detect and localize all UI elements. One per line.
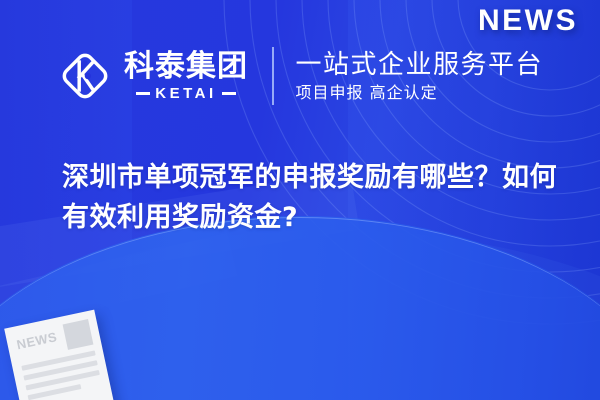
ketai-diamond-monogram-icon: [56, 47, 114, 105]
news-badge-label: NEWS: [478, 6, 578, 36]
brand-name-en: KETAI: [155, 86, 216, 101]
brand-dash-right-icon: [222, 92, 236, 95]
brand-dash-left-icon: [136, 92, 150, 95]
brand-name-cn: 科泰集团: [124, 51, 248, 82]
newspaper-thumbnail-icon: [63, 319, 94, 350]
tagline-secondary: 项目申报 高企认定: [296, 84, 544, 102]
brand-logo-text: 科泰集团 KETAI: [124, 51, 248, 100]
news-banner: NEWS 科泰集团 KETAI: [0, 0, 600, 400]
newspaper-text-lines: [21, 350, 102, 400]
article-headline: 深圳市单项冠军的申报奖励有哪些？如何有效利用奖励资金?: [62, 158, 562, 238]
brand-logo[interactable]: 科泰集团 KETAI: [56, 40, 248, 112]
header-divider: [272, 47, 274, 105]
tagline-block: 一站式企业服务平台 项目申报 高企认定: [296, 51, 544, 102]
tagline-primary: 一站式企业服务平台: [296, 51, 544, 80]
banner-header: 科泰集团 KETAI 一站式企业服务平台 项目申报 高企认定: [56, 40, 543, 112]
brand-name-en-row: KETAI: [124, 86, 248, 101]
newspaper-title: NEWS: [15, 330, 58, 351]
